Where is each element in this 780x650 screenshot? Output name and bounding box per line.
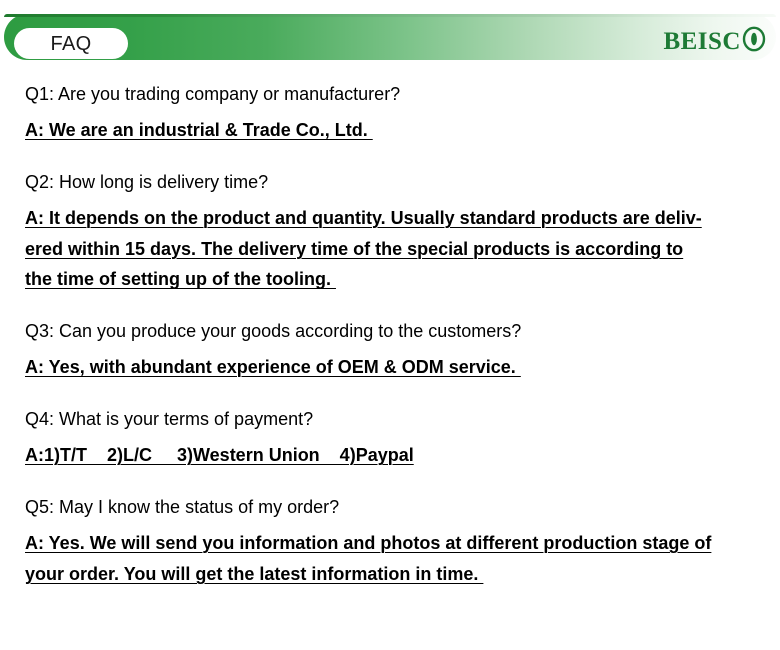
faq-answer-line: A:1)T/T 2)L/C 3)Western Union 4)Paypal [25, 440, 767, 471]
faq-answer-line: A: Yes, with abundant experience of OEM … [25, 352, 767, 383]
faq-answer-line: A: It depends on the product and quantit… [25, 203, 767, 234]
faq-answer: A:1)T/T 2)L/C 3)Western Union 4)Paypal [25, 440, 767, 471]
faq-badge: FAQ [14, 28, 128, 59]
faq-question: Q3: Can you produce your goods according… [25, 317, 767, 346]
beisco-o-logo-mark [742, 26, 766, 57]
faq-answer: A: We are an industrial & Trade Co., Ltd… [25, 115, 767, 146]
faq-answer: A: It depends on the product and quantit… [25, 203, 767, 296]
faq-item: Q1: Are you trading company or manufactu… [25, 80, 767, 146]
faq-answer: A: Yes, with abundant experience of OEM … [25, 352, 767, 383]
brand-name-text: BEISC [663, 29, 741, 54]
faq-answer-line: ered within 15 days. The delivery time o… [25, 234, 767, 265]
faq-list: Q1: Are you trading company or manufactu… [25, 80, 767, 590]
faq-item: Q4: What is your terms of payment? A:1)T… [25, 405, 767, 471]
faq-answer: A: Yes. We will send you information and… [25, 528, 767, 590]
faq-answer-line: A: We are an industrial & Trade Co., Ltd… [25, 115, 767, 146]
faq-question: Q1: Are you trading company or manufactu… [25, 80, 767, 109]
faq-answer-line: your order. You will get the latest info… [25, 559, 767, 590]
faq-answer-line: A: Yes. We will send you information and… [25, 528, 767, 559]
faq-question: Q5: May I know the status of my order? [25, 493, 767, 522]
faq-item: Q5: May I know the status of my order? A… [25, 493, 767, 590]
faq-item: Q2: How long is delivery time? A: It dep… [25, 168, 767, 296]
faq-answer-line: the time of setting up of the tooling. [25, 264, 767, 295]
faq-badge-label: FAQ [51, 34, 92, 54]
faq-item: Q3: Can you produce your goods according… [25, 317, 767, 383]
brand-logo: BEISC [663, 26, 766, 56]
faq-question: Q4: What is your terms of payment? [25, 405, 767, 434]
faq-question: Q2: How long is delivery time? [25, 168, 767, 197]
